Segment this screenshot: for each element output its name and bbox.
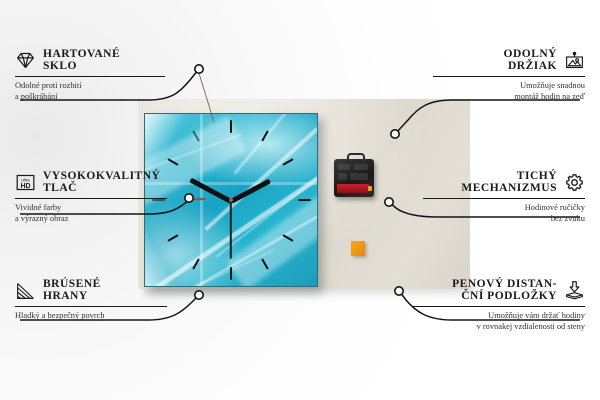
feature-sub-line2: a výrazný obraz	[15, 213, 190, 224]
feature-title-line2: HRANY	[43, 290, 88, 302]
svg-text:ultra: ultra	[21, 178, 30, 183]
mechanism-slot	[338, 164, 350, 170]
feature-title-line1: VYSOKOKVALITNÝ	[43, 170, 160, 182]
clock-tick	[230, 267, 232, 280]
clock-tick	[230, 120, 232, 133]
feature-title-line1: TICHÝ	[517, 170, 557, 182]
clock-mechanism	[334, 159, 374, 197]
feature-title-line2: TLAČ	[43, 182, 77, 194]
feature-durable-hanger: ODOLNÝ DRŽIAK Umožňuje snadnou montáž ho…	[415, 48, 585, 102]
feature-title-line2: DRŽIAK	[508, 60, 557, 72]
feature-title-group: BRÚSENÉ HRANY	[43, 278, 101, 303]
feature-silent-mechanism: TICHÝ MECHANIZMUS Hodinové ručičky bez z…	[405, 170, 585, 224]
feature-high-quality-print: ultra HD VYSOKOKVALITNÝ TLAČ Vividné far…	[15, 170, 190, 224]
feature-sub-line1: Odolné proti rozbití	[15, 80, 185, 91]
feature-foam-spacers: PENOVÝ DISTAN- ČNÍ PODLOŽKY Umožňuje vám…	[395, 278, 585, 332]
feature-heading-row: TICHÝ MECHANIZMUS	[405, 170, 585, 195]
feature-divider	[423, 198, 585, 199]
beveled-edges-icon	[15, 280, 36, 301]
feature-divider	[433, 76, 585, 77]
feature-title-line2: SKLO	[43, 60, 77, 72]
feature-divider	[15, 306, 167, 307]
feature-title-group: TICHÝ MECHANIZMUS	[461, 170, 557, 195]
feature-hardened-glass: HARTOVANÉ SKLO Odolné proti rozbití a po…	[15, 48, 185, 102]
feature-title-line1: ODOLNÝ	[504, 48, 557, 60]
feature-title-group: PENOVÝ DISTAN- ČNÍ PODLOŽKY	[452, 278, 557, 303]
feature-heading-row: PENOVÝ DISTAN- ČNÍ PODLOŽKY	[395, 278, 585, 303]
mechanism-slot	[350, 173, 368, 180]
feature-beveled-edges: BRÚSENÉ HRANY Hladký a bezpečný povrch	[15, 278, 190, 321]
feature-title-line1: HARTOVANÉ	[43, 48, 120, 60]
feature-sub-line1: Umožňuje vám držať hodiny	[395, 310, 585, 321]
svg-text:HD: HD	[20, 183, 30, 190]
feature-divider	[15, 198, 167, 199]
feature-sub-line2: bez zvuku	[405, 213, 585, 224]
diamond-icon	[15, 50, 36, 71]
feature-title-group: ODOLNÝ DRŽIAK	[504, 48, 557, 73]
glass-reflection-line	[200, 114, 203, 286]
clock-art-feather	[233, 113, 306, 175]
feature-heading-row: HARTOVANÉ SKLO	[15, 48, 185, 73]
clock-tick	[167, 234, 178, 242]
mechanism-hanger-hook	[347, 153, 365, 164]
feature-title-line1: BRÚSENÉ	[43, 278, 101, 290]
foam-spacer-pad	[351, 241, 365, 256]
feature-sub-line2: montáž hodin na zeď	[415, 91, 585, 102]
feature-heading-row: BRÚSENÉ HRANY	[15, 278, 190, 303]
feature-heading-row: ultra HD VYSOKOKVALITNÝ TLAČ	[15, 170, 190, 195]
feature-sub-line2: a poškrábání	[15, 91, 185, 102]
mechanism-slot	[354, 164, 368, 170]
clock-second-hand	[230, 201, 232, 259]
feature-title-line2: ČNÍ PODLOŽKY	[461, 290, 557, 302]
feature-sub-line2: v rovnakej vzdialenosti od steny	[395, 321, 585, 332]
infographic-canvas: HARTOVANÉ SKLO Odolné proti rozbití a po…	[0, 0, 600, 400]
gear-icon	[564, 172, 585, 193]
connector-node-1	[195, 65, 203, 73]
feature-divider	[413, 306, 585, 307]
picture-hanger-icon	[564, 50, 585, 71]
feature-sub-line1: Hladký a bezpečný povrch	[15, 310, 190, 321]
ultra-hd-icon: ultra HD	[15, 172, 36, 193]
mechanism-slot	[338, 173, 347, 180]
foam-spacer-icon	[564, 280, 585, 301]
clock-tick	[298, 199, 311, 201]
feature-sub-line1: Vividné farby	[15, 202, 190, 213]
mechanism-battery	[337, 184, 369, 193]
feature-title-line2: MECHANIZMUS	[461, 182, 557, 194]
feature-heading-row: ODOLNÝ DRŽIAK	[415, 48, 585, 73]
clock-center-pin	[229, 198, 233, 202]
feature-title-line1: PENOVÝ DISTAN-	[452, 278, 557, 290]
feature-divider	[15, 76, 165, 77]
feature-title-group: HARTOVANÉ SKLO	[43, 48, 120, 73]
feature-sub-line1: Umožňuje snadnou	[415, 80, 585, 91]
feature-sub-line1: Hodinové ručičky	[405, 202, 585, 213]
feature-title-group: VYSOKOKVALITNÝ TLAČ	[43, 170, 160, 195]
